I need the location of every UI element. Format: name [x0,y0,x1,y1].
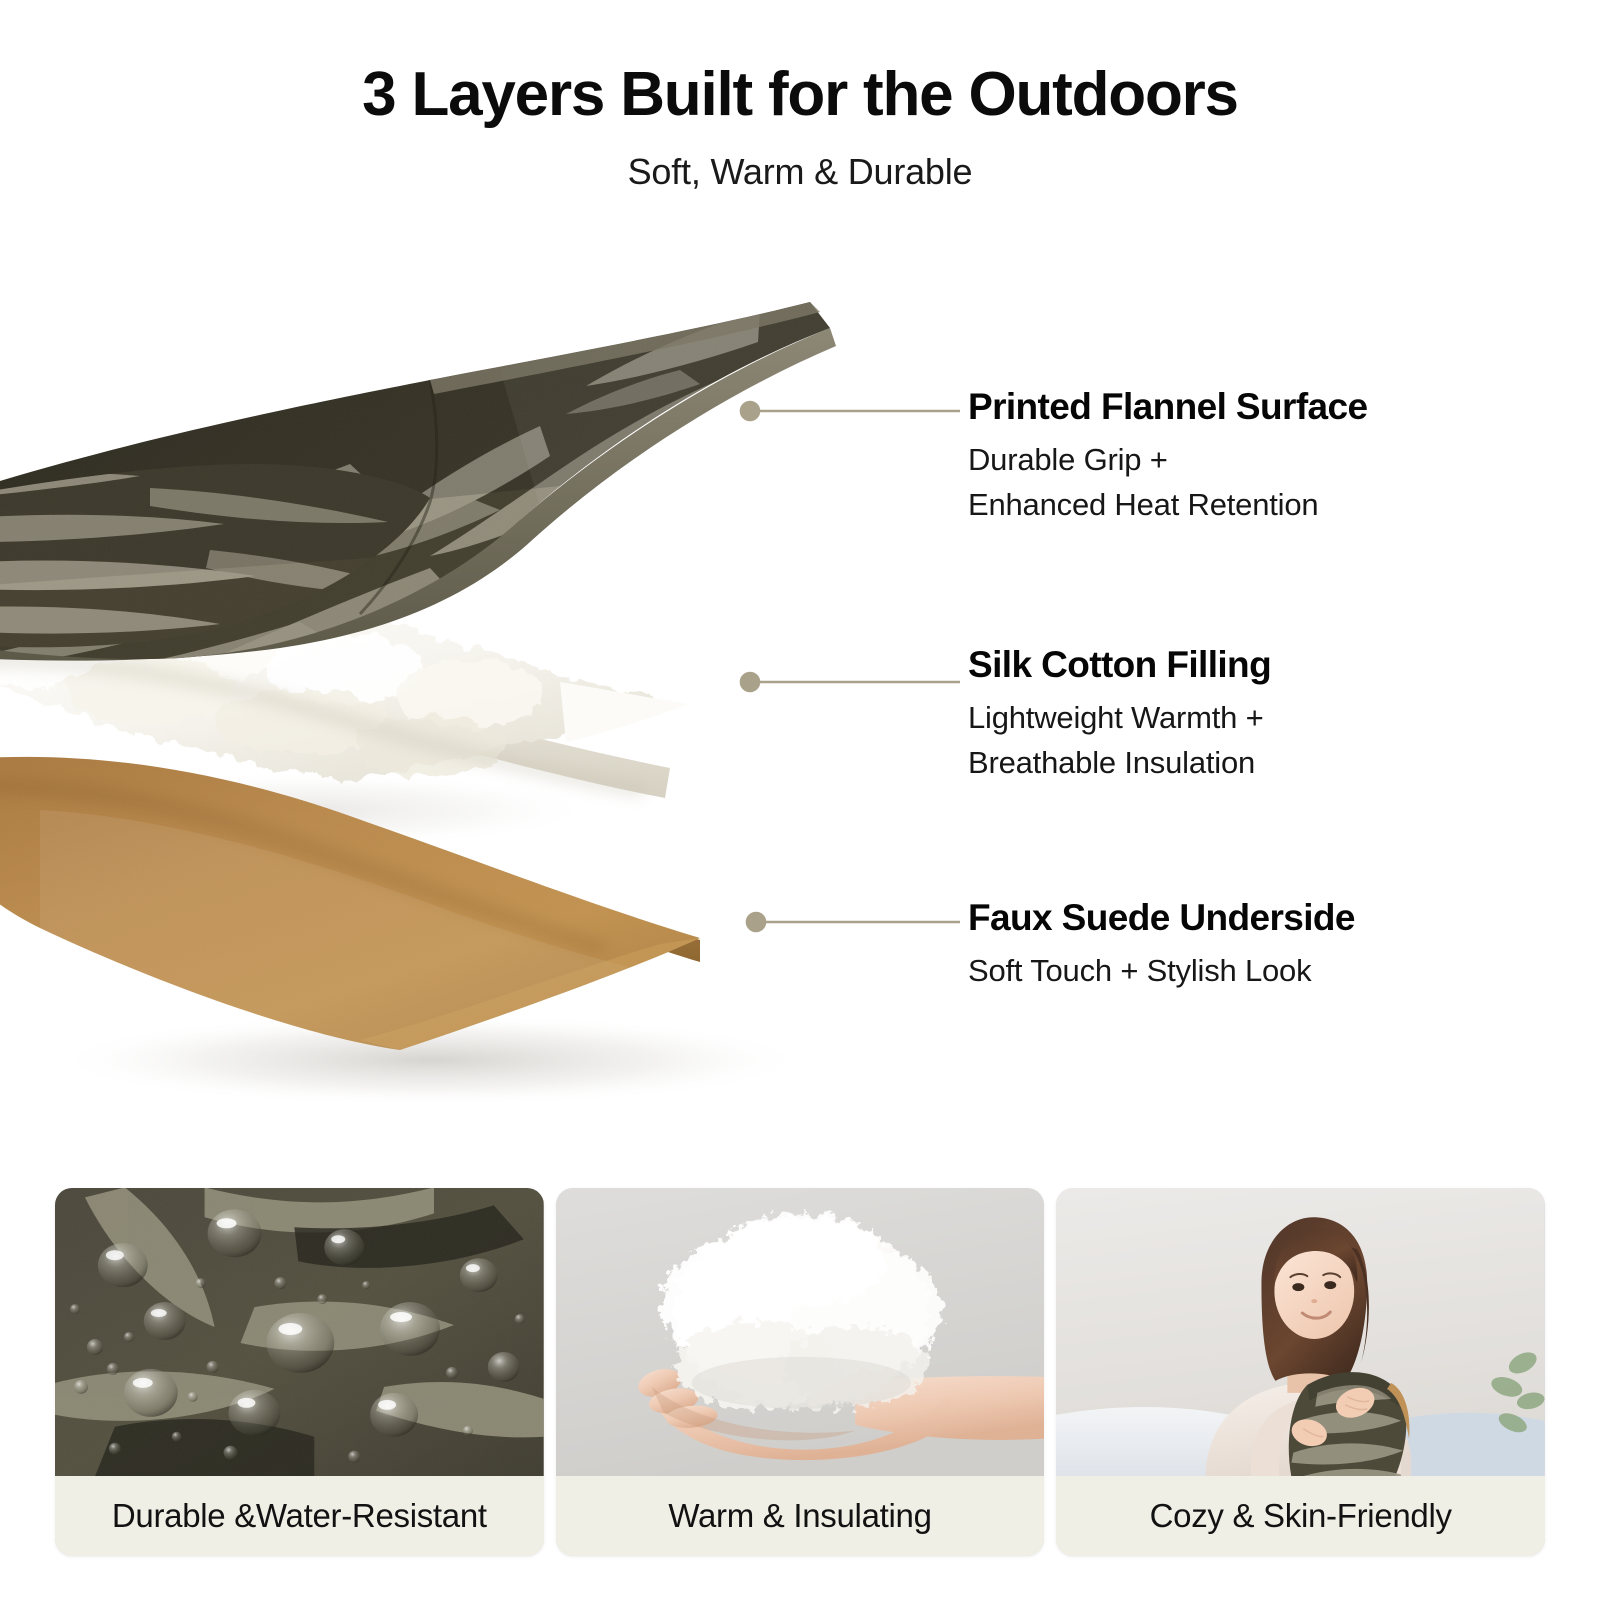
feature-card-caption: Durable &Water-Resistant [55,1476,544,1556]
callout-printed-flannel: Printed Flannel Surface Durable Grip + E… [968,387,1568,525]
callout-heading: Printed Flannel Surface [968,387,1568,428]
callout-line-1: Soft Touch + Stylish Look [968,950,1568,991]
camo-fabric-with-water-droplets-image [55,1188,544,1476]
feature-card-caption: Warm & Insulating [556,1476,1045,1556]
page-title: 3 Layers Built for the Outdoors [0,62,1600,127]
callout-heading: Silk Cotton Filling [968,645,1568,686]
callout-line-2: Enhanced Heat Retention [968,484,1568,525]
product-infographic: 3 Layers Built for the Outdoors Soft, Wa… [0,0,1600,1600]
feature-card-skin-friendly[interactable]: Cozy & Skin-Friendly [1056,1188,1545,1556]
callout-silk-cotton: Silk Cotton Filling Lightweight Warmth +… [968,645,1568,783]
hand-holding-fiber-fill-image [556,1188,1045,1476]
feature-card-row: Durable &Water-Resistant [55,1188,1545,1556]
callout-heading: Faux Suede Underside [968,898,1568,939]
callout-line-2: Breathable Insulation [968,742,1568,783]
feature-card-caption: Cozy & Skin-Friendly [1056,1476,1545,1556]
callout-line-1: Durable Grip + [968,439,1568,480]
callout-line-1: Lightweight Warmth + [968,697,1568,738]
page-subtitle: Soft, Warm & Durable [0,151,1600,193]
feature-card-insulating[interactable]: Warm & Insulating [556,1188,1045,1556]
layer-callouts: Printed Flannel Surface Durable Grip + E… [0,250,1600,1130]
header: 3 Layers Built for the Outdoors Soft, Wa… [0,0,1600,193]
woman-hugging-camo-blanket-image [1056,1188,1545,1476]
callout-faux-suede: Faux Suede Underside Soft Touch + Stylis… [968,898,1568,991]
feature-card-water-resistant[interactable]: Durable &Water-Resistant [55,1188,544,1556]
